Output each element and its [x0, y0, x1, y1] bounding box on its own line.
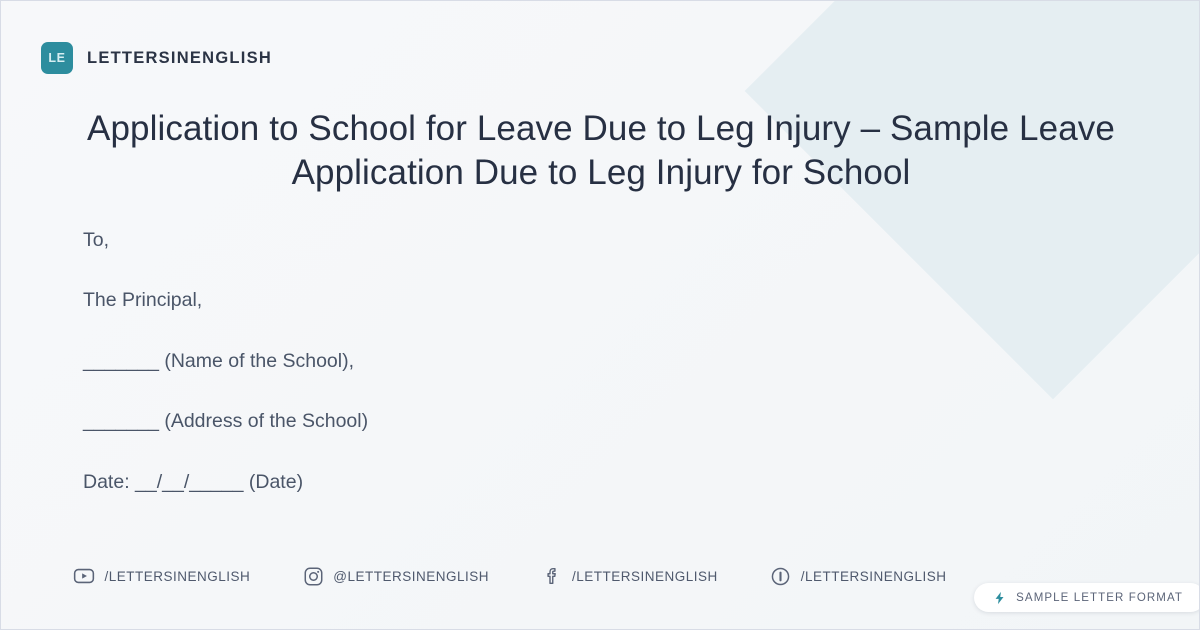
- social-links-row: /LETTERSINENGLISH @LETTERSINENGLISH /LET…: [1, 565, 1011, 587]
- social-link-pinterest[interactable]: /LETTERSINENGLISH: [770, 565, 947, 587]
- brand-logo-badge: LE: [41, 42, 73, 74]
- social-label-youtube: /LETTERSINENGLISH: [104, 569, 250, 584]
- sample-letter-format-label: SAMPLE LETTER FORMAT: [1016, 592, 1183, 604]
- letter-line-principal: The Principal,: [83, 289, 943, 312]
- letter-line-school-name: _______ (Name of the School),: [83, 350, 943, 373]
- letter-line-to: To,: [83, 229, 943, 252]
- facebook-icon: [541, 565, 563, 587]
- sample-letter-format-badge[interactable]: SAMPLE LETTER FORMAT: [974, 583, 1200, 612]
- social-link-facebook[interactable]: /LETTERSINENGLISH: [541, 565, 718, 587]
- youtube-icon: [73, 565, 95, 587]
- letter-body: To, The Principal, _______ (Name of the …: [83, 229, 943, 494]
- brand-wordmark: LETTERSINENGLISH: [87, 49, 272, 68]
- social-label-instagram: @LETTERSINENGLISH: [333, 569, 489, 584]
- page-title: Application to School for Leave Due to L…: [61, 107, 1141, 195]
- lightning-bolt-icon: [993, 590, 1007, 606]
- letter-line-date: Date: __/__/_____ (Date): [83, 471, 943, 494]
- pinterest-icon: [770, 565, 792, 587]
- share-card: LE LETTERSINENGLISH Application to Schoo…: [0, 0, 1200, 630]
- social-link-youtube[interactable]: /LETTERSINENGLISH: [73, 565, 250, 587]
- social-label-pinterest: /LETTERSINENGLISH: [801, 569, 947, 584]
- brand-header[interactable]: LE LETTERSINENGLISH: [41, 42, 272, 74]
- social-label-facebook: /LETTERSINENGLISH: [572, 569, 718, 584]
- social-link-instagram[interactable]: @LETTERSINENGLISH: [302, 565, 489, 587]
- letter-line-school-address: _______ (Address of the School): [83, 410, 943, 433]
- instagram-icon: [302, 565, 324, 587]
